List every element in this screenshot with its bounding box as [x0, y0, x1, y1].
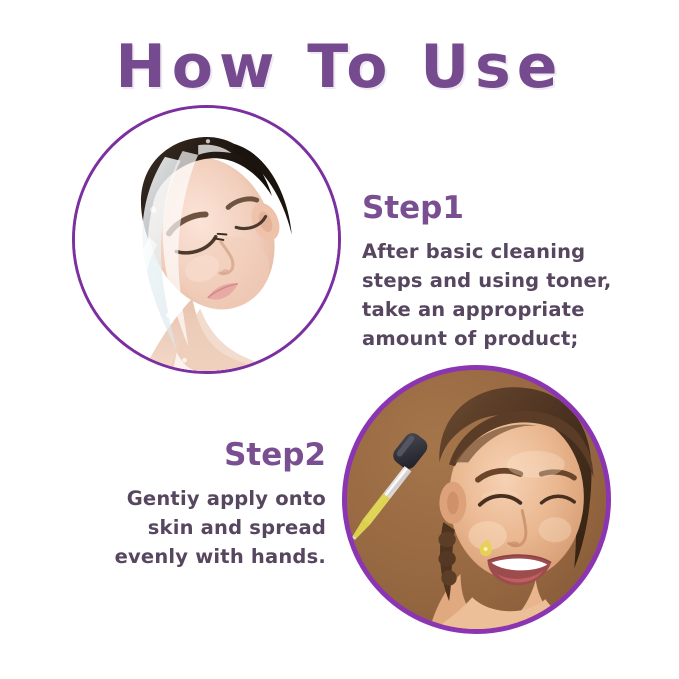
- woman-washing-face-photo: [75, 108, 338, 371]
- step-1-body-line: take an appropriate: [362, 296, 632, 325]
- step-2-body-line: evenly with hands.: [58, 543, 326, 572]
- step-1-body-line: steps and using toner,: [362, 267, 632, 296]
- page-title: How To Use: [0, 36, 679, 99]
- step-1-body-line: amount of product;: [362, 325, 632, 354]
- step-2-body-line: Gentiy apply onto: [58, 485, 326, 514]
- step-2-body: Gentiy apply onto skin and spread evenly…: [58, 485, 326, 572]
- how-to-use-infographic: How To Use: [0, 0, 679, 679]
- step-2-photo-circle: [342, 365, 611, 634]
- step-1-text-block: Step1 After basic cleaning steps and usi…: [362, 190, 632, 354]
- step-1-body: After basic cleaning steps and using ton…: [362, 238, 632, 353]
- step-2-body-line: skin and spread: [58, 514, 326, 543]
- woman-applying-serum-photo: [347, 370, 606, 629]
- step-1-photo-circle: [72, 105, 341, 374]
- step-2-heading: Step2: [58, 437, 326, 474]
- step-2-text-block: Step2 Gentiy apply onto skin and spread …: [58, 437, 326, 572]
- step-1-body-line: After basic cleaning: [362, 238, 632, 267]
- step-1-heading: Step1: [362, 190, 632, 227]
